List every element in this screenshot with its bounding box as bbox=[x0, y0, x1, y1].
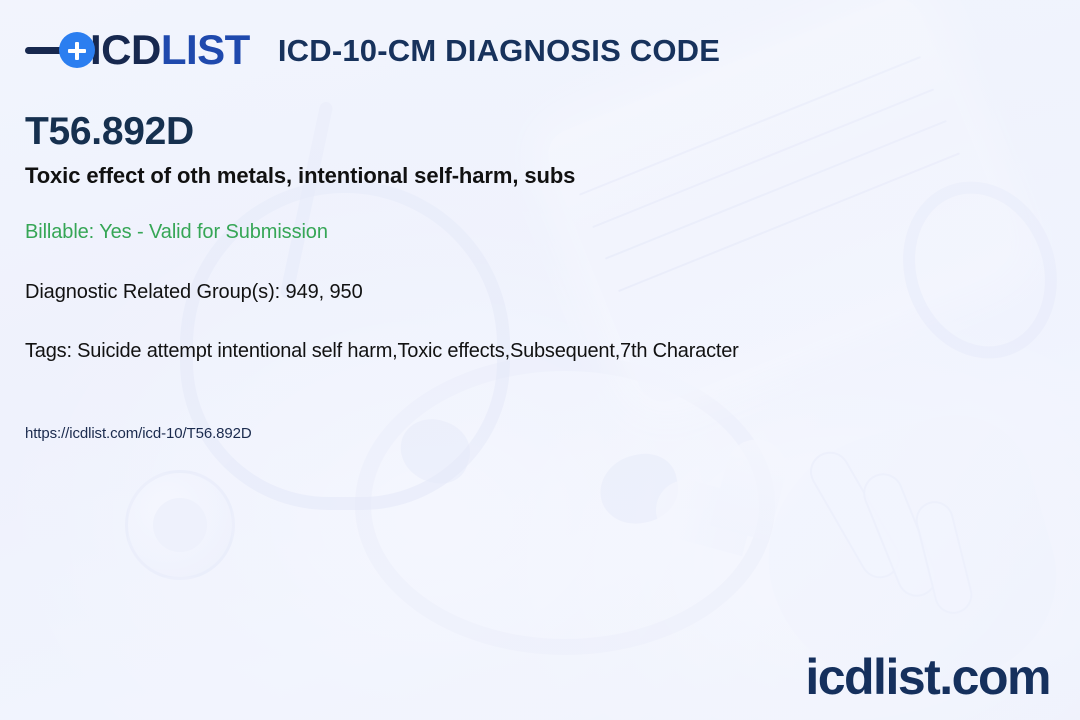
diagnosis-code: T56.892D bbox=[25, 112, 1055, 153]
diagnosis-description: Toxic effect of oth metals, intentional … bbox=[25, 163, 1055, 189]
page-root: ICDLIST ICD-10-CM DIAGNOSIS CODE T56.892… bbox=[0, 0, 1080, 720]
page-header: ICDLIST ICD-10-CM DIAGNOSIS CODE bbox=[25, 0, 1055, 72]
code-details: T56.892D Toxic effect of oth metals, int… bbox=[25, 112, 1055, 442]
diagnostic-related-groups: Diagnostic Related Group(s): 949, 950 bbox=[25, 281, 1055, 304]
tags-list: Tags: Suicide attempt intentional self h… bbox=[25, 340, 1055, 363]
logo-word-primary: ICD bbox=[90, 26, 161, 73]
logo-word-secondary: LIST bbox=[161, 26, 250, 73]
billable-status: Billable: Yes - Valid for Submission bbox=[25, 221, 1055, 244]
icdlist-logo[interactable]: ICDLIST bbox=[25, 29, 250, 71]
source-url[interactable]: https://icdlist.com/icd-10/T56.892D bbox=[25, 425, 1055, 442]
logo-wordmark: ICDLIST bbox=[90, 29, 250, 71]
footer-brand: icdlist.com bbox=[805, 652, 1050, 702]
plus-circle-icon bbox=[59, 32, 95, 68]
page-title: ICD-10-CM DIAGNOSIS CODE bbox=[278, 35, 720, 66]
